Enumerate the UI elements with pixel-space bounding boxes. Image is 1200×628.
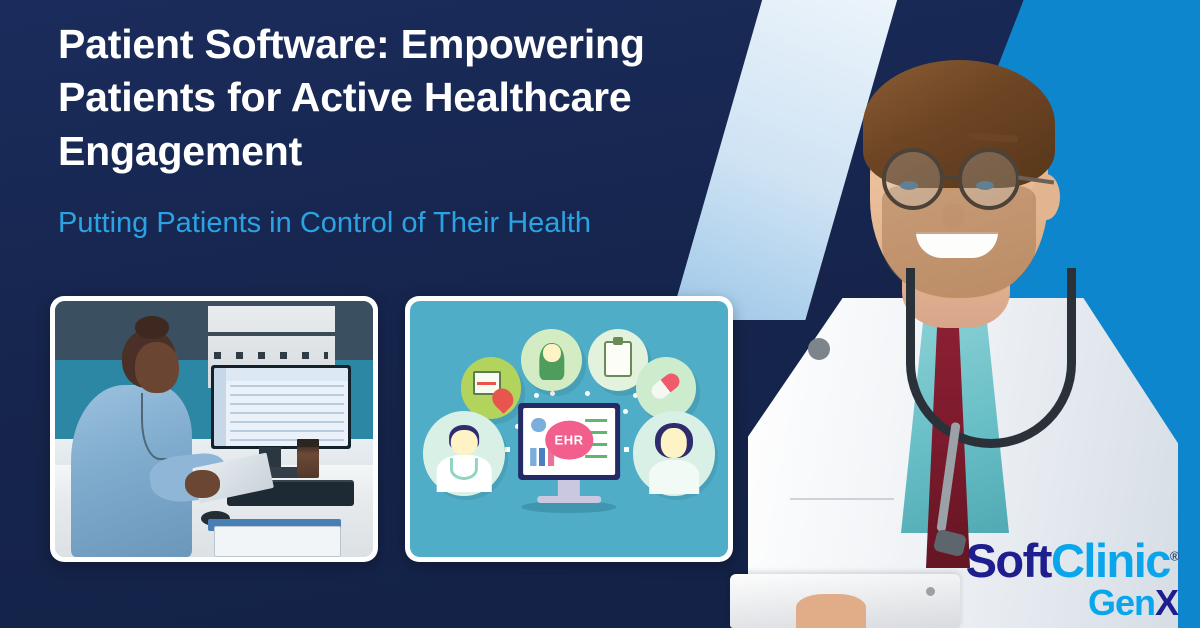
monitor-screen — [214, 368, 348, 446]
doctor-stethoscope-icon — [450, 458, 478, 480]
doctor-stethoscope — [906, 268, 1076, 448]
registered-trademark-icon: ® — [1170, 549, 1178, 564]
desktop-monitor — [211, 365, 351, 449]
ehr-monitor-screen: EHR — [523, 408, 615, 475]
cabinet-handles — [214, 352, 328, 359]
pill-capsule-icon — [636, 357, 696, 418]
ehr-connectivity-illustration: EHR — [410, 301, 728, 557]
connector-dot — [534, 393, 539, 398]
logo-x-text: X — [1155, 582, 1178, 623]
doctor-smile — [916, 232, 998, 258]
page-title: Patient Software: Empowering Patients fo… — [58, 18, 768, 178]
doctor-glasses-left-lens — [882, 148, 944, 210]
capsule-icon — [649, 370, 684, 402]
document-folder — [214, 526, 341, 557]
connector-dot — [550, 391, 555, 396]
connector-dot — [585, 391, 590, 396]
clipboard-icon — [604, 341, 632, 377]
doctor-hand — [796, 594, 866, 628]
patient-record-rows — [230, 385, 344, 441]
ecg-heart-icon — [461, 357, 521, 418]
doctor-avatar — [423, 411, 506, 495]
logo-gen-text: Gen — [1088, 582, 1155, 623]
patient-face — [661, 428, 687, 458]
doctor-glasses-right-lens — [958, 148, 1020, 210]
ehr-monitor: EHR — [518, 403, 620, 480]
doctor-face-icon — [542, 344, 560, 362]
patient-torso — [649, 460, 699, 494]
nurse-workstation-photo — [55, 301, 373, 557]
logo-secondary-row: GenX — [966, 586, 1178, 620]
record-avatar-icon — [531, 418, 546, 433]
ehr-illustration-frame: EHR — [410, 301, 728, 557]
nurse-hand — [185, 470, 220, 498]
tablet-camera — [926, 587, 935, 596]
logo-primary-row: SoftClinic® — [966, 539, 1178, 584]
cabinet-edge — [208, 332, 335, 336]
stethoscope-earpiece — [808, 338, 830, 360]
software-toolbar — [214, 368, 348, 381]
connector-dot — [623, 409, 628, 414]
ehr-illustration-card: EHR — [405, 296, 733, 562]
patient-avatar — [633, 411, 716, 495]
ehr-badge: EHR — [545, 421, 593, 460]
software-sidebar — [214, 368, 226, 446]
marketing-banner: Patient Software: Empowering Patients fo… — [0, 0, 1200, 628]
medicine-bottle — [297, 444, 319, 477]
doctor-avatar-icon — [521, 329, 581, 390]
doctor-glasses-bridge — [943, 176, 959, 180]
doctor-nose — [942, 204, 964, 230]
medicine-bottle-cap — [297, 439, 319, 447]
nurse-photo-card — [50, 296, 378, 562]
doctor-face — [451, 430, 477, 455]
softclinic-genx-logo: SoftClinic® GenX — [966, 539, 1178, 620]
logo-clinic-text: Clinic — [1051, 534, 1170, 587]
page-subtitle: Putting Patients in Control of Their Hea… — [58, 205, 758, 241]
doctor-coat-pocket — [790, 498, 894, 568]
nurse-photo-frame — [55, 301, 373, 557]
ehr-monitor-neck — [558, 480, 580, 495]
ehr-monitor-foot — [537, 496, 601, 504]
nurse-face — [135, 342, 180, 393]
logo-soft-text: Soft — [966, 534, 1051, 587]
